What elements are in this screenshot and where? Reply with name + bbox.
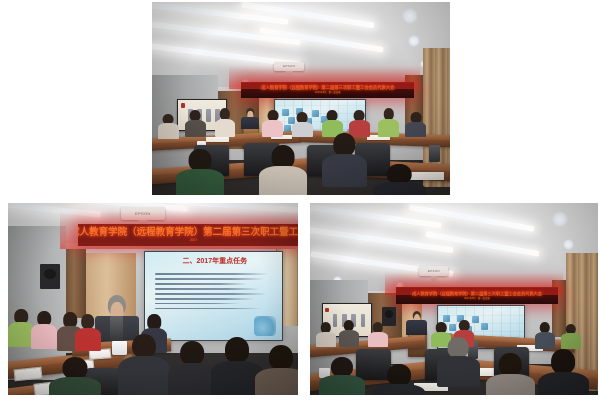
banner-subline: 2017年3月 · 第一会议室 <box>315 92 341 94</box>
attendee-foreground <box>486 353 535 395</box>
attendee <box>316 322 336 347</box>
attendee <box>31 311 57 349</box>
attendee-head <box>132 334 156 359</box>
photo-bottom-right[interactable]: EPSON 成人教育学院（远程教育学院）第二届第三次职工暨工会会员代表大会 20… <box>310 203 598 395</box>
attendee-torso <box>319 375 365 395</box>
attendee-torso <box>486 374 535 395</box>
slide-title: 二、2017年重点任务 <box>156 258 273 265</box>
attendee-torso <box>262 120 283 137</box>
attendee-torso <box>373 384 425 395</box>
attendee <box>158 114 179 139</box>
attendee-foreground <box>538 349 590 395</box>
attendee-head <box>272 145 295 169</box>
attendee-torso <box>158 123 179 139</box>
attendee-torso <box>405 122 426 138</box>
attendee-torso <box>215 119 236 138</box>
attendee-head <box>331 357 353 377</box>
attendee-torso <box>118 356 170 395</box>
attendee-head <box>62 357 87 379</box>
banner-subline: 2017 <box>190 239 198 242</box>
meeting-document <box>206 137 230 142</box>
attendee-head <box>188 149 211 171</box>
attendee-head <box>372 322 382 332</box>
attendee-torso <box>292 122 313 138</box>
attendee-torso <box>185 120 206 137</box>
attendee-torso <box>322 154 367 187</box>
attendee-foreground <box>168 341 217 395</box>
attendee-torso <box>561 333 581 348</box>
attendee-foreground <box>373 364 425 395</box>
banner-headline: 成人教育学院（远程教育学院）第二届第三次职工暨工会会 <box>78 228 298 238</box>
attendee-torso <box>535 332 555 349</box>
led-banner: 成人教育学院（远程教育学院）第二届第三次职工暨工会会员代表大会 2017年3月 … <box>396 287 557 303</box>
led-banner: 成人教育学院（远程教育学院）第二届第三次职工暨工会会员代表大会 2017年3月 … <box>241 82 414 97</box>
attendee <box>262 110 283 137</box>
attendee <box>535 322 555 349</box>
attendee <box>405 112 426 137</box>
attendee-head <box>552 349 576 374</box>
attendee-foreground <box>259 145 307 195</box>
attendee-torso <box>538 372 590 395</box>
banner-subline: 2017年3月 · 第一会议室 <box>464 298 490 300</box>
calligraphy-seal <box>325 308 329 313</box>
attendee-foreground <box>49 357 101 395</box>
attendee-head <box>448 337 469 358</box>
downlight <box>552 211 568 227</box>
attendee-head <box>499 353 522 377</box>
attendee-foreground <box>322 133 367 187</box>
wood-wall-panel <box>66 249 86 318</box>
attendee-torso <box>168 363 217 395</box>
attendee-head <box>384 108 394 120</box>
attendee-foreground <box>319 357 365 395</box>
ceiling-projector: EPSON <box>419 266 448 276</box>
photo-top[interactable]: EPSON 成人教育学院（远程教育学院）第二届第三次职工暨工会会员代表大会 20… <box>152 2 450 195</box>
attendee-torso <box>176 169 224 195</box>
banner-headline: 成人教育学院（远程教育学院）第二届第三次职工暨工会会员代表大会 <box>412 292 542 296</box>
attendee-torso <box>75 328 101 351</box>
attendee-torso <box>8 322 34 347</box>
attendee <box>378 108 399 137</box>
conference-hall-scene-top: EPSON 成人教育学院（远程教育学院）第二届第三次职工暨工会会员代表大会 20… <box>152 2 450 195</box>
attendee-head <box>297 112 308 123</box>
attendee-torso <box>373 182 427 195</box>
attendee-torso <box>378 119 399 138</box>
conference-hall-scene-right: EPSON 成人教育学院（远程教育学院）第二届第三次职工暨工会会员代表大会 20… <box>310 203 598 395</box>
attendee-head <box>81 314 95 329</box>
attendee-head <box>436 322 446 332</box>
attendee-head <box>180 341 204 365</box>
downlight <box>408 35 420 47</box>
attendee-head <box>225 337 249 363</box>
speaker-at-podium <box>406 311 426 336</box>
attendee-head <box>220 108 230 120</box>
projector-brand-label: EPSON <box>428 269 440 273</box>
attendee-foreground <box>255 345 299 395</box>
attendee-foreground <box>437 337 480 387</box>
attendee <box>561 324 581 349</box>
attendee <box>292 112 313 137</box>
attendee <box>215 108 236 137</box>
speaker-torso <box>241 117 259 130</box>
attendee-torso <box>31 324 57 349</box>
attendee <box>368 322 388 347</box>
attendee-foreground <box>373 164 427 195</box>
projector-brand-label: EPSON <box>135 211 151 216</box>
ceiling-projector: EPSON <box>274 62 304 71</box>
attendee-torso <box>255 368 299 395</box>
attendee-torso <box>368 332 388 347</box>
attendee <box>185 110 206 137</box>
speaker-torso <box>406 320 426 335</box>
conference-hall-scene-left: EPSON 成人教育学院（远程教育学院）第二届第三次职工暨工会会 2017 二、… <box>8 203 298 395</box>
slide-bullet-lines <box>155 273 274 313</box>
photo-bottom-left[interactable]: EPSON 成人教育学院（远程教育学院）第二届第三次职工暨工会会 2017 二、… <box>8 203 298 395</box>
attendee-head <box>269 345 293 370</box>
thermos-flask <box>429 145 439 162</box>
downlight <box>402 8 418 24</box>
ceiling-projector: EPSON <box>121 207 165 220</box>
calligraphy-seal <box>181 103 185 107</box>
photo-collage: EPSON 成人教育学院（远程教育学院）第二届第三次职工暨工会会员代表大会 20… <box>0 0 600 400</box>
attendee <box>339 320 359 347</box>
attendee-torso <box>339 330 359 347</box>
attendee-foreground <box>176 149 224 195</box>
slide-logo <box>254 316 276 335</box>
attendee-head <box>321 322 331 332</box>
attendee-torso <box>437 356 480 387</box>
attendee-head <box>333 133 354 156</box>
attendee <box>8 309 34 347</box>
attendee-torso <box>259 166 307 195</box>
speaker-at-podium <box>241 108 259 129</box>
attendee-head <box>410 112 421 123</box>
projector-brand-label: EPSON <box>283 64 295 68</box>
attendee-foreground <box>118 334 170 395</box>
wall-speaker <box>40 264 60 289</box>
led-banner: 成人教育学院（远程教育学院）第二届第三次职工暨工会会 2017 <box>78 224 298 246</box>
attendee <box>75 314 101 350</box>
attendee-torso <box>49 377 101 395</box>
attendee-torso <box>316 332 336 347</box>
